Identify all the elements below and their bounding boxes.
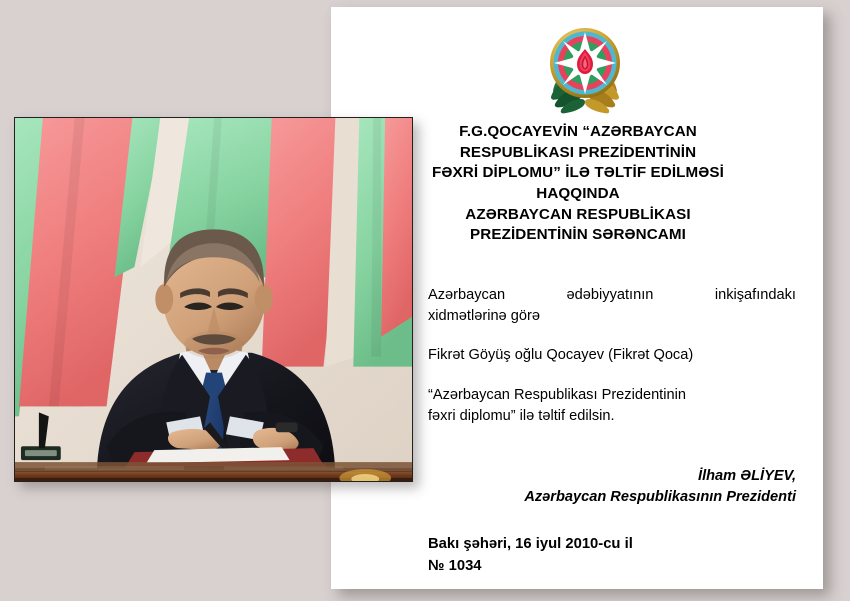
decree-title: F.G.QOCAYEVİN “AZƏRBAYCAN RESPUBLİKASI P… bbox=[361, 122, 795, 246]
title-line-5: AZƏRBAYCAN RESPUBLİKASI bbox=[361, 205, 795, 226]
body-paragraph-award: “Azərbaycan Respublikası Prezidentinin f… bbox=[428, 385, 796, 426]
body-paragraph-reason: Azərbaycan ədəbiyyatının inkişafındakı x… bbox=[428, 285, 796, 326]
decree-number: № 1034 bbox=[428, 555, 796, 577]
title-line-1: F.G.QOCAYEVİN “AZƏRBAYCAN bbox=[361, 122, 795, 143]
place-and-date: Bakı şəhəri, 16 iyul 2010-cu il bbox=[428, 533, 796, 555]
decree-body: Azərbaycan ədəbiyyatının inkişafındakı x… bbox=[428, 285, 796, 446]
signatory-position: Azərbaycan Respublikasının Prezidenti bbox=[428, 487, 796, 508]
body-award-line-2: fəxri diplomu” ilə təltif edilsin. bbox=[428, 408, 615, 424]
president-signing-photo-image bbox=[15, 118, 412, 481]
coat-of-arms-icon bbox=[545, 19, 625, 115]
title-line-2: RESPUBLİKASI PREZİDENTİNİN bbox=[361, 143, 795, 164]
president-signing-photo bbox=[14, 117, 413, 482]
body-reason-line-2: xidmətlərinə görə bbox=[428, 306, 796, 327]
date-block: Bakı şəhəri, 16 iyul 2010-cu il № 1034 bbox=[428, 533, 796, 577]
title-line-4: HAQQINDA bbox=[361, 184, 795, 205]
title-line-6: PREZİDENTİNİN SƏRƏNCAMI bbox=[361, 225, 795, 246]
body-paragraph-recipient: Fikrət Göyüş oğlu Qocayev (Fikrət Qoca) bbox=[428, 345, 796, 366]
title-line-3: FƏXRİ DİPLOMU” İLƏ TƏLTİF EDİLMƏSİ bbox=[361, 163, 795, 184]
signature-block: İlham ƏLİYEV, Azərbaycan Respublikasının… bbox=[428, 466, 796, 508]
body-award-line-1: “Azərbaycan Respublikası Prezidentinin bbox=[428, 387, 686, 403]
body-reason-line-1: Azərbaycan ədəbiyyatının inkişafındakı bbox=[428, 285, 796, 306]
coat-of-arms-emblem bbox=[545, 19, 625, 115]
signatory-name: İlham ƏLİYEV, bbox=[428, 466, 796, 487]
